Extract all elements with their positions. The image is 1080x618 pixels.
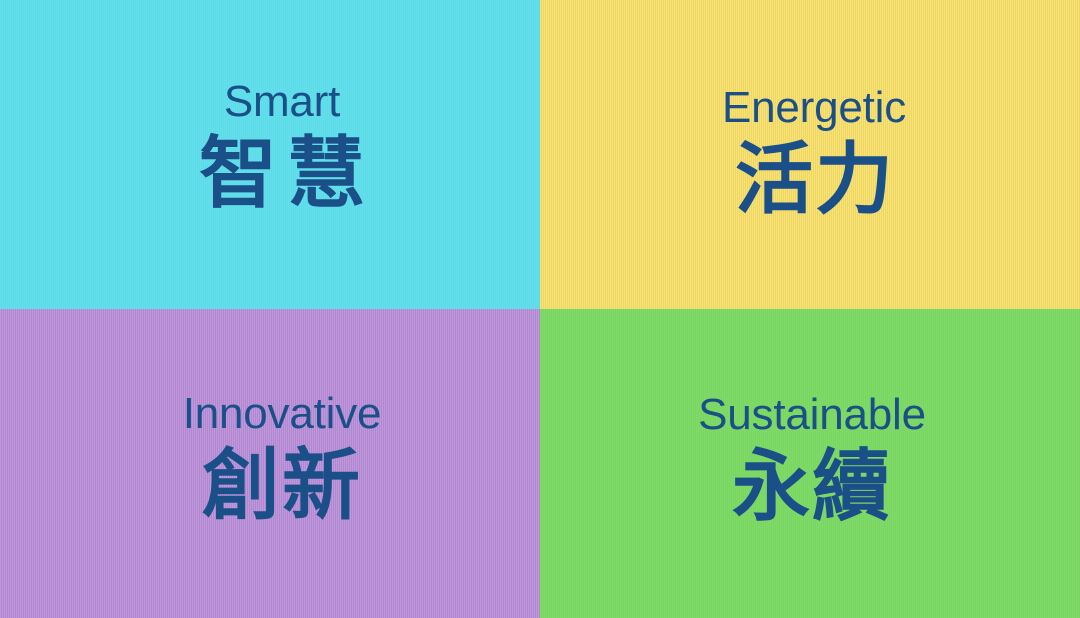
label-chinese-smart: 智慧 [189, 127, 375, 219]
label-english-sustainable: Sustainable [698, 391, 926, 439]
label-chinese-innovative: 創新 [183, 439, 382, 531]
brand-values-grid: Smart 智慧 Energetic 活力 Innovative 創新 Sust… [0, 0, 1080, 618]
label-chinese-sustainable: 永續 [698, 440, 926, 532]
quadrant-energetic: Energetic 活力 [540, 0, 1080, 309]
label-english-energetic: Energetic [722, 84, 906, 132]
label-block-energetic: Energetic 活力 [722, 84, 906, 226]
label-block-sustainable: Sustainable 永續 [698, 391, 926, 533]
quadrant-sustainable: Sustainable 永續 [540, 309, 1080, 618]
label-english-innovative: Innovative [183, 390, 382, 438]
label-block-innovative: Innovative 創新 [183, 390, 382, 532]
label-chinese-energetic: 活力 [722, 133, 906, 225]
quadrant-smart: Smart 智慧 [0, 0, 540, 309]
label-block-smart: Smart 智慧 [189, 78, 375, 220]
label-english-smart: Smart [189, 78, 375, 126]
quadrant-innovative: Innovative 創新 [0, 309, 540, 618]
